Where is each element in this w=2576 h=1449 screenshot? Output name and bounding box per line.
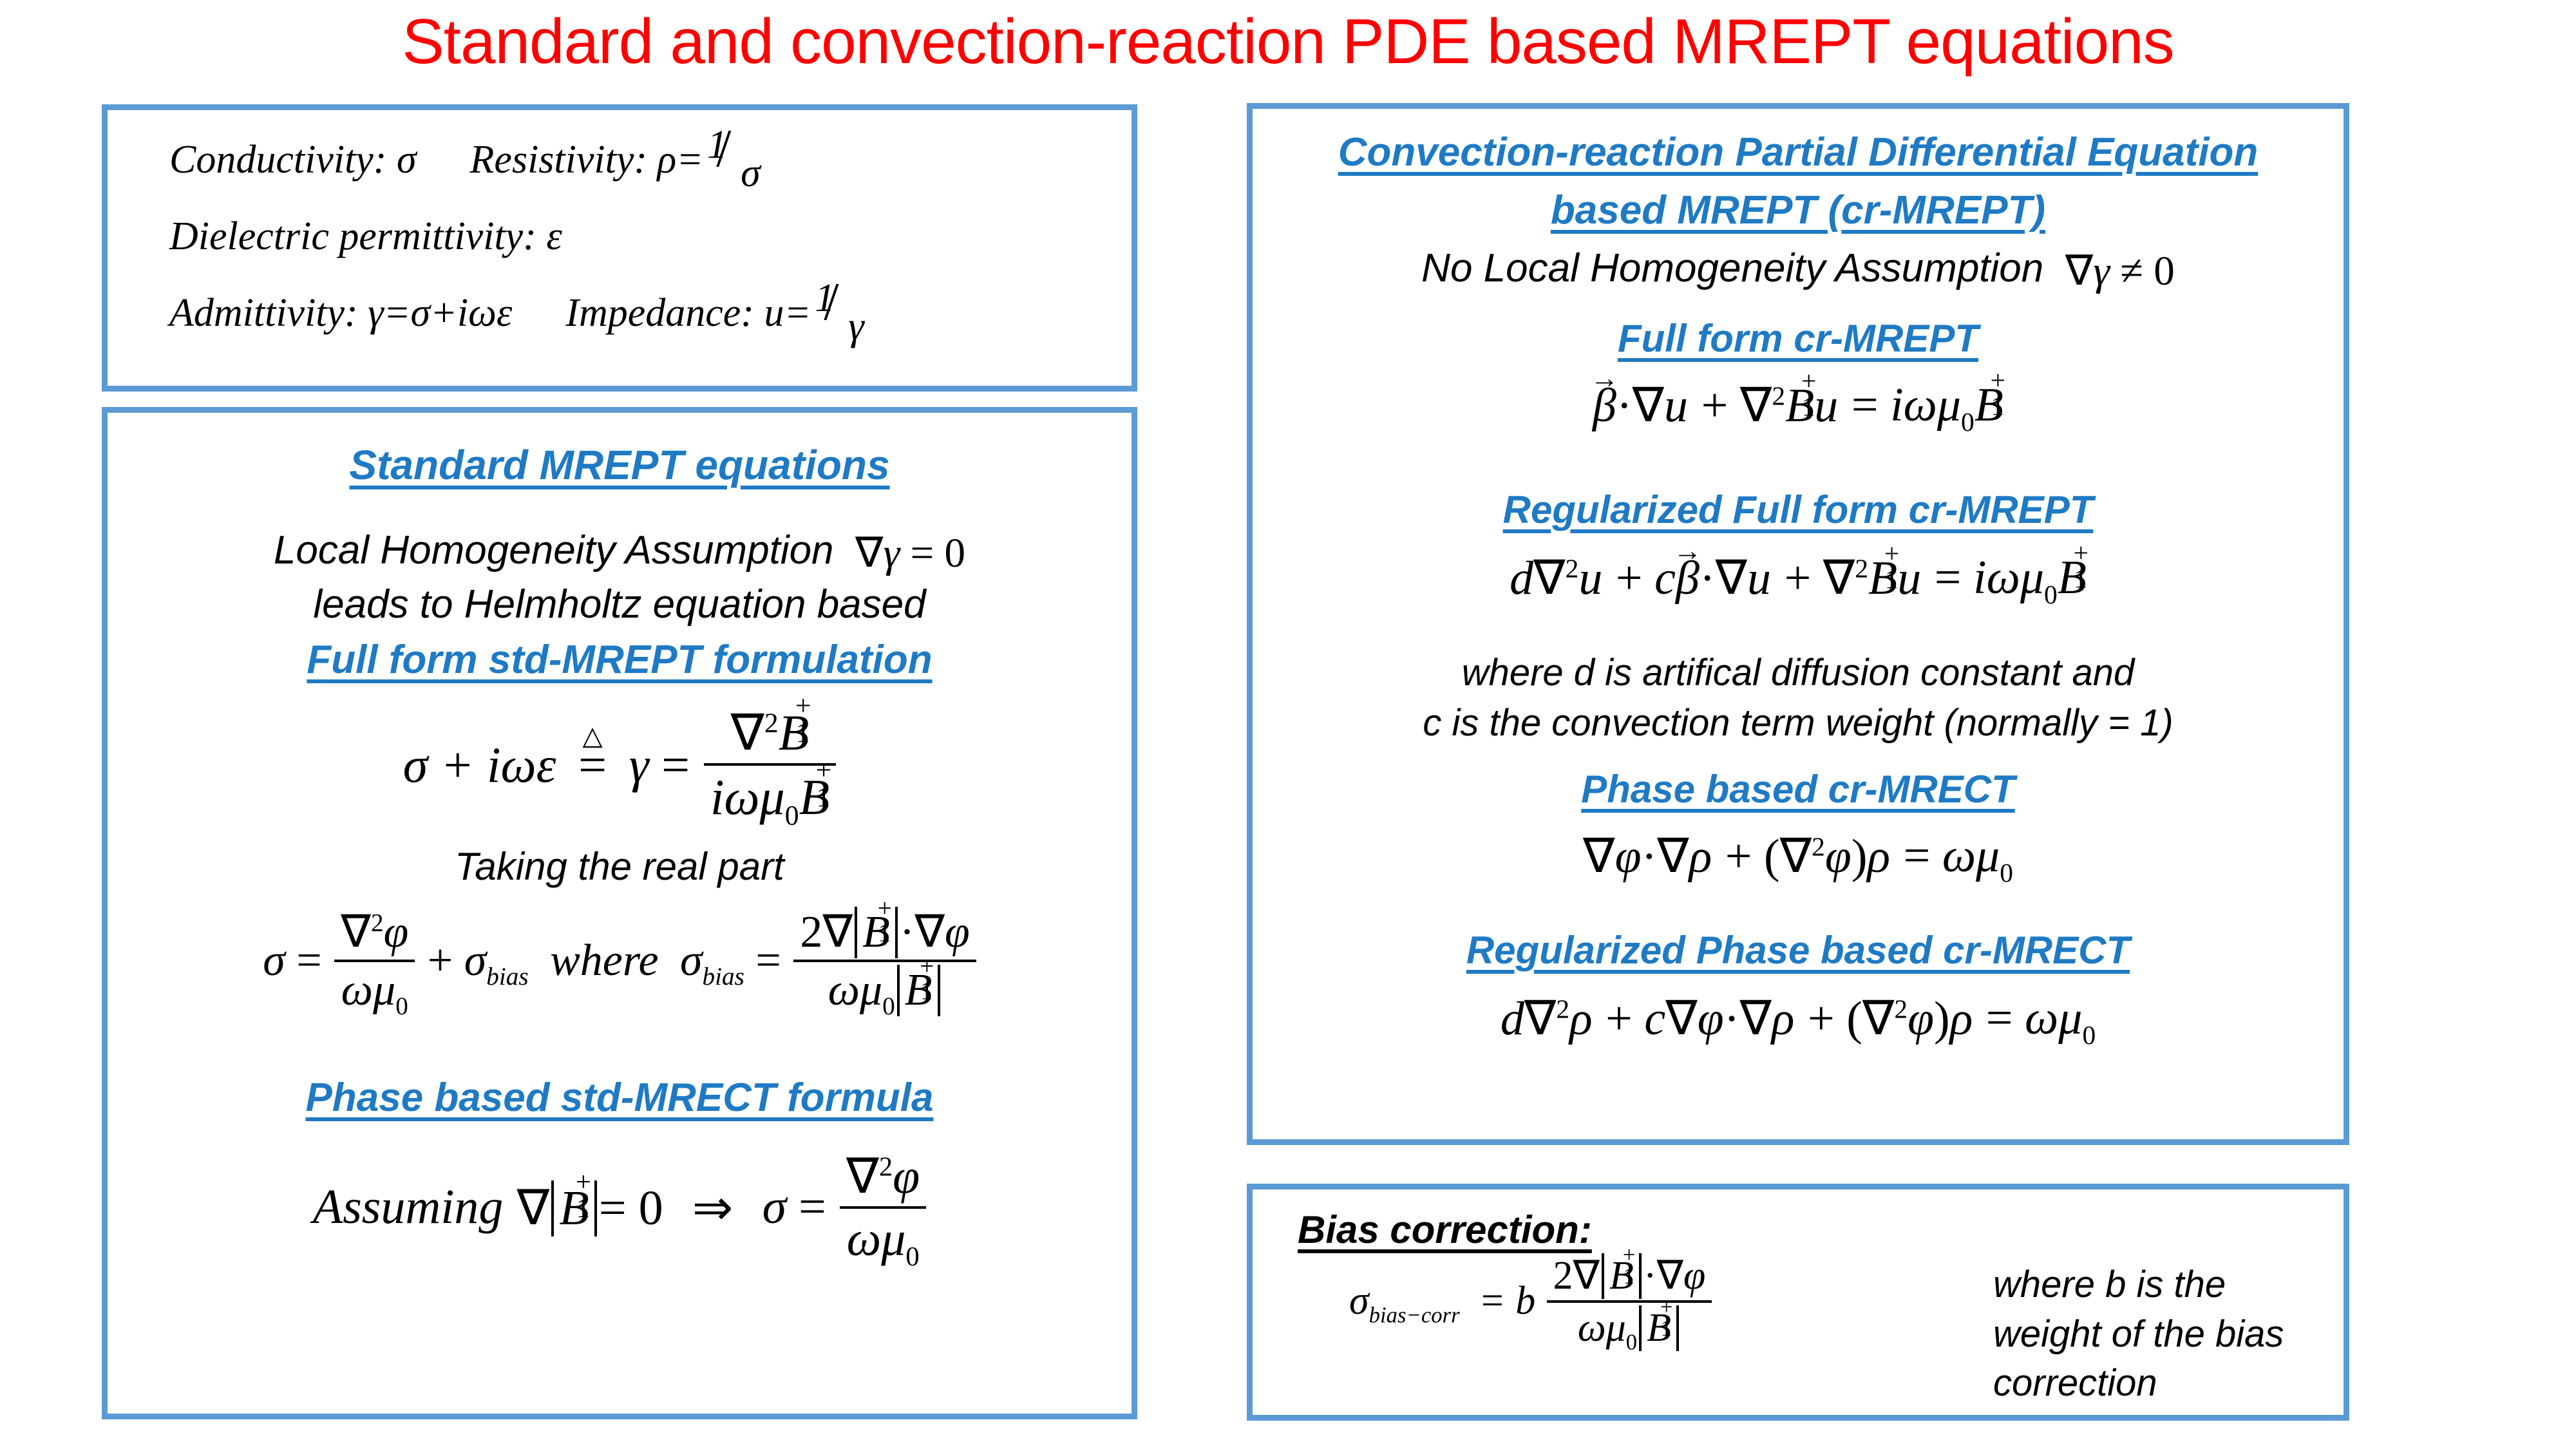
diffusion-term: d∇2ρ (1501, 990, 1593, 1046)
page-title: Standard and convection-reaction PDE bas… (0, 5, 2576, 78)
equation-rhs: = iωμ0B+1 (1935, 551, 2087, 605)
assumption-equation: ∇γ = 0 (845, 529, 965, 578)
beta-vector: →β·∇u (1593, 377, 1688, 433)
phase-based-cr-mrect-heading: Phase based cr-MRECT (1253, 767, 2344, 811)
sigma-equals: σ = (263, 935, 322, 987)
taking-real-part-text: Taking the real part (108, 844, 1132, 889)
gamma-fraction: ∇2B+1 iωμ0B+1 (704, 704, 836, 826)
sigma-bias-equals: σbias = (680, 935, 781, 987)
fraction-denominator: ωμ0B+1 (793, 962, 976, 1016)
bias-fraction: 2∇B+1·∇φ ωμ0B+1 (1547, 1251, 1712, 1351)
bias-correction-equation: σbias−corr = b 2∇B+1·∇φ ωμ0B+1 (1349, 1251, 1712, 1351)
bias-note-line3: correction (1993, 1359, 2284, 1408)
impedance-symbol: u= (764, 291, 811, 335)
cr-mrept-regularized-equation: d∇2u + c→β·∇u + ∇2B+1u = iωμ0B+1 (1253, 547, 2344, 606)
standard-mrept-heading: Standard MREPT equations (108, 441, 1132, 489)
bias-correction-heading: Bias correction: (1298, 1207, 1592, 1252)
fraction-numerator: ∇2φ (840, 1147, 926, 1209)
helmholtz-line: leads to Helmholtz equation based (108, 582, 1132, 627)
implies-icon: ⇒ (692, 1179, 734, 1236)
cr-mrept-full-form-equation: →β·∇u + ∇2B+1u = iωμ0B+1 (1253, 374, 2344, 433)
gradient-dot-term: ∇φ·∇ρ (1583, 828, 1712, 884)
laplacian-b1-u: + ∇2B+1u (1785, 550, 1922, 606)
bias-correction-box: Bias correction: σbias−corr = b 2∇B+1·∇φ… (1247, 1184, 2349, 1421)
equation-rhs: = ωμ0 (1904, 829, 2013, 884)
full-form-cr-mrept-heading: Full form cr-MREPT (1253, 316, 2344, 361)
cr-mrect-regularized-phase-equation: d∇2ρ + c∇φ·∇ρ + (∇2φ)ρ = ωμ0 (1253, 987, 2344, 1046)
impedance-denominator: γ (848, 306, 864, 348)
fraction-denominator: ωμ0 (334, 962, 415, 1016)
standard-mrept-box: Standard MREPT equations Local Homogenei… (102, 407, 1137, 1419)
fraction-denominator: ωμ0B+1 (1547, 1303, 1712, 1351)
gamma-equals: γ = (629, 736, 690, 794)
laplacian-phase-rho-term: + (∇2φ)ρ (1725, 828, 1890, 884)
fraction-numerator: 2∇B+1·∇φ (793, 905, 976, 962)
std-mrept-gamma-equation: σ + iωε △= γ = ∇2B+1 iωμ0B+1 (108, 704, 1132, 826)
fraction-slash: / (716, 120, 731, 177)
equation-rhs: = ωμ0 (1986, 991, 2096, 1046)
triangle-equals-icon: △= (570, 736, 615, 794)
phase-fraction: ∇2φ ωμ0 (840, 1147, 926, 1267)
cr-mrept-box: Convection-reaction Partial Differential… (1247, 103, 2349, 1145)
no-local-homogeneity-line: No Local Homogeneity Assumption ∇γ ≠ 0 (1253, 245, 2344, 296)
cr-mrept-heading-line2: based MREPT (cr-MREPT) (1253, 187, 2344, 233)
local-homogeneity-assumption-line: Local Homogeneity Assumption ∇γ = 0 (108, 527, 1132, 578)
admittivity-formula: γ=σ+iωε (368, 291, 512, 335)
plus-sigma-bias: + σbias (428, 935, 529, 987)
assumption-equation: ∇γ ≠ 0 (2055, 247, 2175, 296)
resistivity-symbol: ρ= (658, 138, 704, 182)
bias-note-line1: where b is the (1993, 1260, 2284, 1310)
grad-abs-b1-zero: ∇B+1= 0 (516, 1179, 663, 1236)
bias-correction-note: where b is the weight of the bias correc… (1993, 1260, 2284, 1408)
where-text: where (550, 935, 658, 987)
convection-weight-note: c is the convection term weight (normall… (1253, 701, 2344, 744)
convection-term: + c∇φ·∇ρ (1605, 990, 1794, 1046)
laplacian-phase-fraction: ∇2φ ωμ0 (334, 905, 415, 1016)
fraction-denominator: iωμ0B+1 (704, 766, 836, 826)
full-form-std-mrept-heading: Full form std-MREPT formulation (108, 637, 1132, 683)
diffusion-constant-note: where d is artifical diffusion constant … (1253, 651, 2344, 694)
impedance-label: Impedance: (565, 291, 754, 335)
fraction-denominator: ωμ0 (840, 1209, 926, 1267)
phase-based-std-mrect-heading: Phase based std-MRECT formula (108, 1075, 1132, 1121)
resistivity-denominator: σ (741, 153, 761, 194)
std-mrept-sigma-equation: σ = ∇2φ ωμ0 + σbias where σbias = 2∇B+1·… (108, 905, 1132, 1016)
cr-mrept-heading-line1: Convection-reaction Partial Differential… (1253, 129, 2344, 175)
equals-b: = b (1479, 1278, 1535, 1324)
assumption-text: Local Homogeneity Assumption (274, 528, 834, 573)
cr-mrect-phase-equation: ∇φ·∇ρ + (∇2φ)ρ = ωμ0 (1253, 825, 2344, 884)
convection-term: + c→β·∇u (1616, 550, 1771, 606)
sigma-equals: σ = (762, 1179, 826, 1235)
admittivity-label: Admittivity: (169, 291, 358, 335)
definition-row-admittivity-impedance: Admittivity: γ=σ+iωε Impedance: u=1/γ (169, 292, 869, 342)
equation-rhs: = iωμ0B+1 (1851, 378, 2003, 433)
definition-row-permittivity: Dielectric permittivity: ε (169, 216, 562, 258)
sigma-bias-corr-symbol: σbias−corr (1349, 1278, 1460, 1324)
fraction-numerator: 2∇B+1·∇φ (1547, 1251, 1712, 1303)
bias-note-line2: weight of the bias (1993, 1310, 2284, 1359)
impedance-fraction: 1/γ (811, 292, 869, 342)
assuming-text: Assuming (313, 1179, 504, 1235)
resistivity-fraction: 1/σ (703, 138, 761, 189)
fraction-slash: / (824, 274, 838, 330)
equation-lhs: σ + iωε (403, 736, 556, 794)
assumption-text: No Local Homogeneity Assumption (1421, 246, 2043, 290)
definitions-box: Conductivity: σ Resistivity: ρ=1/σ Diele… (102, 104, 1137, 392)
regularized-phase-cr-mrect-heading: Regularized Phase based cr-MRECT (1253, 928, 2344, 972)
laplacian-b1-u: + ∇2B+1u (1701, 377, 1839, 433)
definition-row-conductivity-resistivity: Conductivity: σ Resistivity: ρ=1/σ (169, 138, 761, 189)
sigma-bias-fraction: 2∇B+1·∇φ ωμ0B+1 (793, 905, 976, 1016)
permittivity-label: Dielectric permittivity: (169, 214, 536, 258)
std-mrect-phase-equation: Assuming ∇B+1= 0 ⇒ σ = ∇2φ ωμ0 (108, 1147, 1132, 1267)
resistivity-label: Resistivity: (470, 138, 647, 182)
diffusion-term: d∇2u (1510, 550, 1602, 606)
fraction-numerator: ∇2φ (334, 905, 415, 962)
conductivity-label: Conductivity: (169, 138, 386, 182)
laplacian-phase-rho-term: + (∇2φ)ρ (1808, 990, 1973, 1046)
regularized-full-form-heading: Regularized Full form cr-MREPT (1253, 488, 2344, 532)
conductivity-symbol: σ (397, 138, 417, 182)
permittivity-symbol: ε (546, 214, 562, 258)
